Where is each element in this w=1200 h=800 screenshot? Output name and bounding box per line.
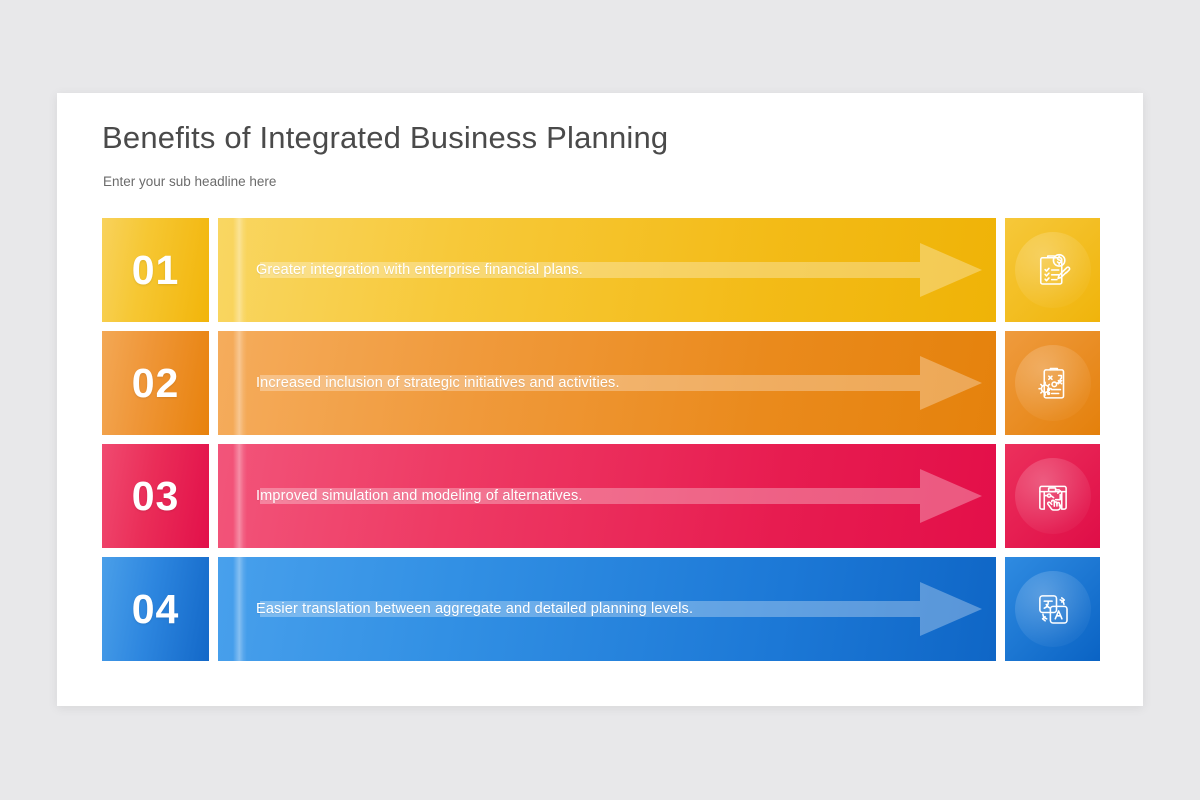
step-number-block-01: 01 xyxy=(102,218,209,322)
step-number-block-04: 04 xyxy=(102,557,209,661)
hand-simulation-board-icon xyxy=(1032,475,1074,517)
list-item[interactable]: 03 Improved simulation and modeling of a… xyxy=(102,444,1100,548)
benefits-list: 01 Greater integration with enterprise f… xyxy=(102,218,1100,661)
icon-tile-01[interactable] xyxy=(1005,218,1100,322)
benefit-bar-01[interactable]: Greater integration with enterprise fina… xyxy=(218,218,996,322)
translate-language-icon xyxy=(1032,588,1074,630)
bar-highlight-stripe xyxy=(233,218,247,322)
slide-stage: Benefits of Integrated Business Planning… xyxy=(0,0,1200,800)
icon-circle xyxy=(1015,458,1091,534)
benefit-bar-04[interactable]: Easier translation between aggregate and… xyxy=(218,557,996,661)
list-item[interactable]: 04 Easier translation between aggregate … xyxy=(102,557,1100,661)
icon-circle xyxy=(1015,345,1091,421)
slide-card: Benefits of Integrated Business Planning… xyxy=(57,93,1143,706)
list-item[interactable]: 02 Increased inclusion of strategic init… xyxy=(102,331,1100,435)
icon-tile-03[interactable] xyxy=(1005,444,1100,548)
benefit-text: Greater integration with enterprise fina… xyxy=(256,262,583,278)
icon-circle xyxy=(1015,232,1091,308)
bar-highlight-stripe xyxy=(233,557,247,661)
benefit-text: Easier translation between aggregate and… xyxy=(256,601,693,617)
clipboard-dollar-pen-icon xyxy=(1032,249,1074,291)
benefit-bar-03[interactable]: Improved simulation and modeling of alte… xyxy=(218,444,996,548)
step-number-block-02: 02 xyxy=(102,331,209,435)
step-number-label: 03 xyxy=(132,476,180,517)
icon-tile-04[interactable] xyxy=(1005,557,1100,661)
step-number-label: 02 xyxy=(132,363,180,404)
bar-highlight-stripe xyxy=(233,444,247,548)
icon-tile-02[interactable] xyxy=(1005,331,1100,435)
bar-highlight-stripe xyxy=(233,331,247,435)
step-number-label: 04 xyxy=(132,589,180,630)
icon-circle xyxy=(1015,571,1091,647)
step-number-block-03: 03 xyxy=(102,444,209,548)
benefit-bar-02[interactable]: Increased inclusion of strategic initiat… xyxy=(218,331,996,435)
step-number-label: 01 xyxy=(132,250,180,291)
benefit-text: Improved simulation and modeling of alte… xyxy=(256,488,583,504)
list-item[interactable]: 01 Greater integration with enterprise f… xyxy=(102,218,1100,322)
page-title: Benefits of Integrated Business Planning xyxy=(102,120,668,156)
strategy-clipboard-gear-icon xyxy=(1032,362,1074,404)
benefit-text: Increased inclusion of strategic initiat… xyxy=(256,375,620,391)
page-subtitle: Enter your sub headline here xyxy=(103,174,276,189)
